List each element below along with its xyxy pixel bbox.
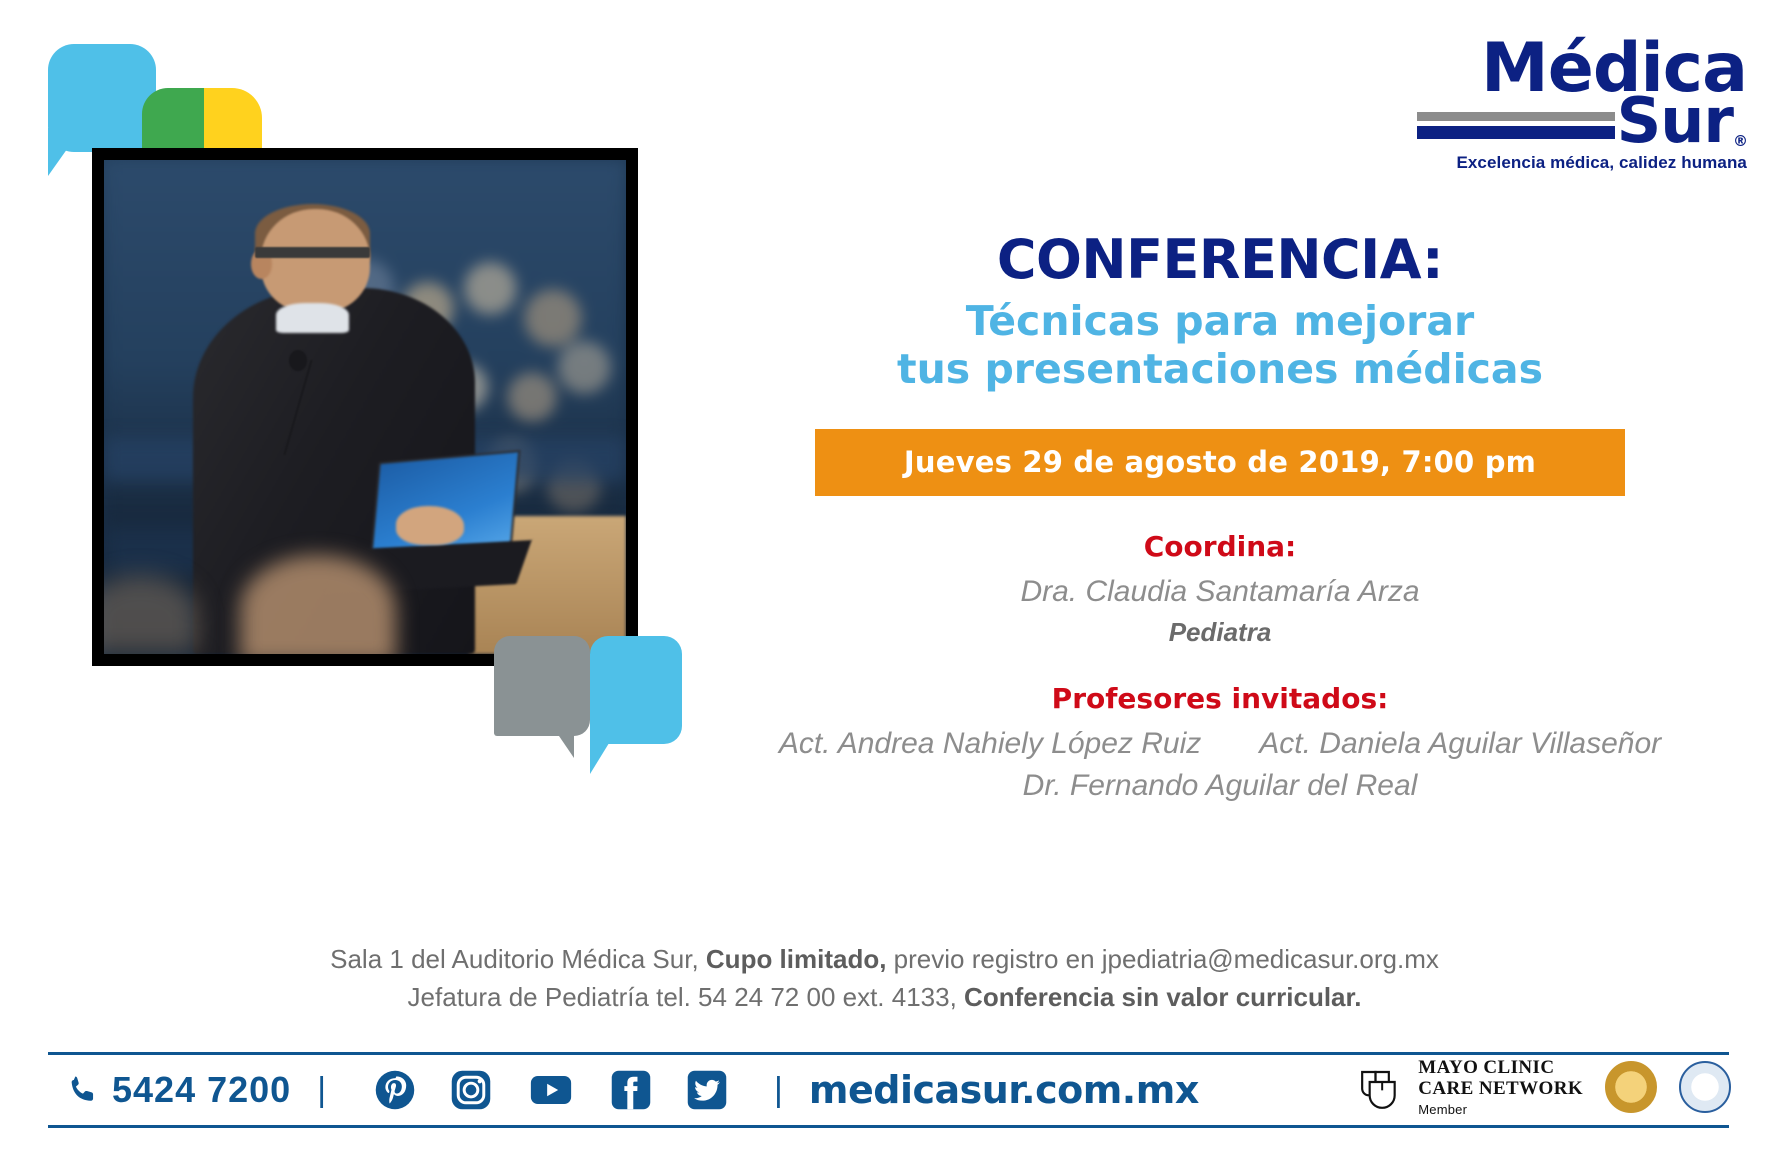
- guest-professor-3: Dr. Fernando Aguilar del Real: [700, 769, 1740, 803]
- medica-sur-logo: Médica Sur® Excelencia médica, calidez h…: [1417, 38, 1747, 173]
- speaker-collar: [276, 303, 349, 333]
- instagram-icon: [450, 1069, 492, 1111]
- foreground-audience-head: [240, 555, 397, 654]
- mayo-text-block: MAYO CLINIC CARE NETWORK Member: [1418, 1057, 1583, 1118]
- gray-speech-bubble-icon: [494, 636, 590, 736]
- blue-speech-bubble-icon: [590, 636, 682, 744]
- pinterest-icon: [374, 1069, 416, 1111]
- facebook-link[interactable]: [610, 1069, 652, 1111]
- logo-blue-bar: [1417, 126, 1615, 139]
- phone-block[interactable]: 5424 7200: [48, 1069, 291, 1111]
- coordinator-label: Coordina:: [700, 530, 1740, 563]
- mayo-clinic-care-network-badge: MAYO CLINIC CARE NETWORK Member: [1358, 1057, 1583, 1118]
- social-links: [352, 1069, 728, 1111]
- twitter-icon: [686, 1069, 728, 1111]
- youtube-icon: [526, 1069, 576, 1111]
- blue-accreditation-seal-icon: [1679, 1061, 1731, 1113]
- speaker-hand: [396, 506, 464, 546]
- venue-line-1: Sala 1 del Auditorio Médica Sur, Cupo li…: [0, 940, 1769, 978]
- speaker-head: [261, 209, 371, 313]
- phone-number: 5424 7200: [112, 1069, 291, 1111]
- guest-professor-1: Act. Andrea Nahiely López Ruiz: [779, 727, 1201, 761]
- logo-sur-text: Sur: [1617, 84, 1733, 157]
- cyan-speech-bubble-icon: [48, 44, 156, 152]
- page-subtitle: Técnicas para mejorar tus presentaciones…: [700, 297, 1740, 394]
- guest-professor-2: Act. Daniela Aguilar Villaseñor: [1259, 727, 1661, 761]
- page-subtitle-line-2: tus presentaciones médicas: [700, 345, 1740, 393]
- logo-word-sur: Sur®: [1615, 95, 1747, 148]
- guest-professors-label: Profesores invitados:: [700, 682, 1740, 715]
- venue-line-1-bold: Cupo limitado,: [706, 944, 887, 974]
- accreditation-badges: MAYO CLINIC CARE NETWORK Member: [1358, 1052, 1731, 1122]
- speaker-glasses-icon: [255, 247, 370, 258]
- venue-line-2: Jefatura de Pediatría tel. 54 24 72 00 e…: [0, 978, 1769, 1016]
- instagram-link[interactable]: [450, 1069, 492, 1111]
- logo-tagline: Excelencia médica, calidez humana: [1417, 153, 1747, 173]
- venue-line-2-bold: Conferencia sin valor curricular.: [964, 982, 1361, 1012]
- decorative-speech-bubbles-bottom: [494, 636, 684, 786]
- logo-gray-bar: [1417, 112, 1615, 121]
- venue-line-1-a: Sala 1 del Auditorio Médica Sur,: [330, 944, 706, 974]
- venue-line-1-b: previo registro en jpediatria@medicasur.…: [886, 944, 1438, 974]
- conference-photo: [92, 148, 638, 666]
- phone-icon: [66, 1073, 100, 1107]
- website-link[interactable]: medicasur.com.mx: [809, 1068, 1199, 1112]
- main-content: CONFERENCIA: Técnicas para mejorar tus p…: [700, 232, 1740, 803]
- guest-professors-row: Act. Andrea Nahiely López Ruiz Act. Dani…: [700, 727, 1740, 761]
- twitter-link[interactable]: [686, 1069, 728, 1111]
- conference-photo-image: [104, 160, 626, 654]
- coordinator-name: Dra. Claudia Santamaría Arza: [700, 575, 1740, 609]
- gold-accreditation-seal-icon: [1605, 1061, 1657, 1113]
- page-title: CONFERENCIA:: [700, 232, 1740, 289]
- venue-line-2-a: Jefatura de Pediatría tel. 54 24 72 00 e…: [408, 982, 965, 1012]
- mayo-line-1: MAYO CLINIC: [1418, 1057, 1583, 1078]
- mayo-member-label: Member: [1418, 1102, 1583, 1117]
- venue-info: Sala 1 del Auditorio Médica Sur, Cupo li…: [0, 940, 1769, 1017]
- facebook-icon: [610, 1069, 652, 1111]
- registered-trademark-icon: ®: [1733, 131, 1747, 149]
- green-overlap-shape: [142, 88, 204, 152]
- footer-separator-1: |: [291, 1071, 352, 1110]
- mayo-shield-icon: [1358, 1062, 1408, 1112]
- conference-poster: Médica Sur® Excelencia médica, calidez h…: [0, 0, 1769, 1155]
- youtube-link[interactable]: [526, 1069, 576, 1111]
- mayo-line-2: CARE NETWORK: [1418, 1078, 1583, 1099]
- coordinator-role: Pediatra: [700, 617, 1740, 648]
- logo-bars: [1417, 112, 1615, 147]
- date-banner: Jueves 29 de agosto de 2019, 7:00 pm: [815, 429, 1625, 496]
- footer-separator-2: |: [728, 1071, 809, 1110]
- pinterest-link[interactable]: [374, 1069, 416, 1111]
- microphone-icon: [289, 350, 307, 371]
- page-subtitle-line-1: Técnicas para mejorar: [700, 297, 1740, 345]
